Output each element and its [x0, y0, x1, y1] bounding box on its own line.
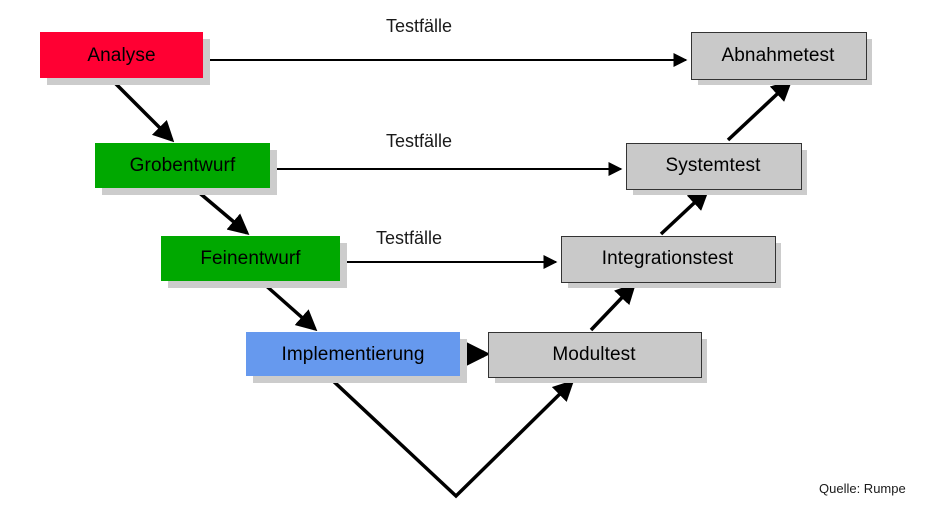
edge-label-testfaelle-1: Testfälle — [386, 16, 452, 37]
edge-label-testfaelle-2: Testfälle — [386, 131, 452, 152]
node-systemtest[interactable]: Systemtest — [626, 143, 800, 188]
node-implementierung[interactable]: Implementierung — [246, 332, 460, 376]
v-model-diagram: Analyse Grobentwurf Feinentwurf Implemen… — [0, 0, 951, 517]
edge-systemtest-to-abnahmetest — [728, 82, 790, 140]
edge-feinentwurf-to-implementierung — [263, 283, 315, 329]
node-analyse[interactable]: Analyse — [40, 32, 203, 78]
node-feinentwurf[interactable]: Feinentwurf — [161, 236, 340, 281]
node-label: Integrationstest — [602, 249, 734, 268]
source-note: Quelle: Rumpe — [819, 481, 906, 496]
node-label: Abnahmetest — [721, 46, 834, 65]
node-modultest[interactable]: Modultest — [488, 332, 700, 376]
node-label: Feinentwurf — [200, 249, 300, 268]
node-integrationstest[interactable]: Integrationstest — [561, 236, 774, 281]
node-label: Implementierung — [281, 345, 424, 364]
edge-grobentwurf-to-feinentwurf — [196, 190, 247, 233]
node-label: Analyse — [87, 46, 155, 65]
edge-label-testfaelle-3: Testfälle — [376, 228, 442, 249]
node-grobentwurf[interactable]: Grobentwurf — [95, 143, 270, 188]
edge-implementierung-to-modultest-v — [330, 378, 572, 496]
node-label: Grobentwurf — [130, 156, 236, 175]
edge-integrationstest-to-systemtest — [661, 191, 707, 234]
node-label: Systemtest — [666, 156, 761, 175]
node-abnahmetest[interactable]: Abnahmetest — [691, 32, 865, 78]
edge-analyse-to-grobentwurf — [112, 80, 172, 140]
node-label: Modultest — [552, 345, 635, 364]
edge-modultest-to-integrationstest — [591, 285, 634, 330]
